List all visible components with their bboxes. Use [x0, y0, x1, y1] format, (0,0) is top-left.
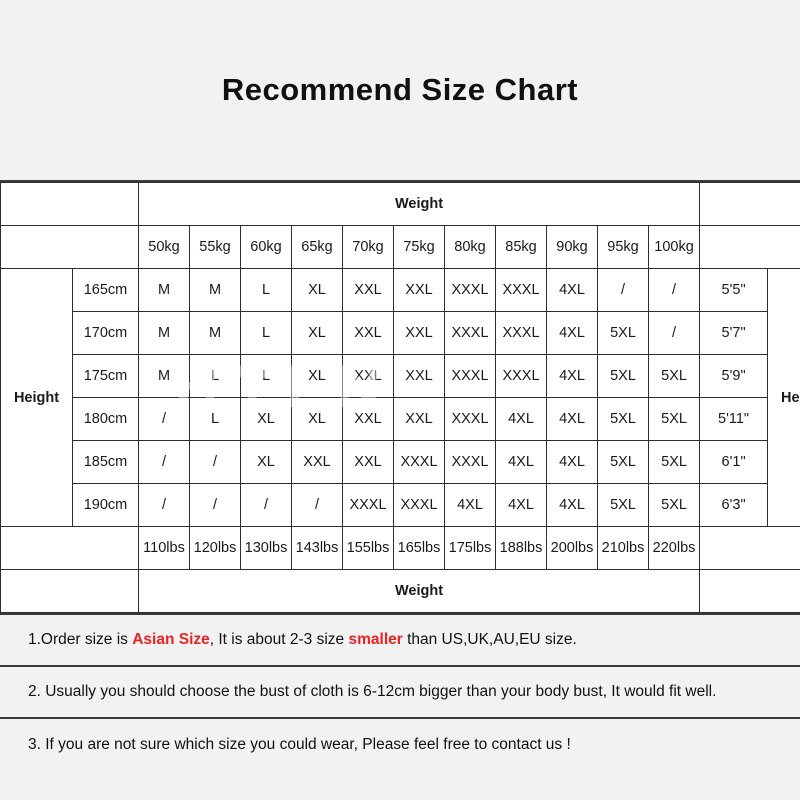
note-item: 1.Order size is Asian Size, It is about … [0, 615, 800, 667]
size-cell[interactable]: 4XL [496, 441, 547, 484]
size-cell-value: XXL [394, 312, 444, 354]
size-table: Weight50kg55kg60kg65kg70kg75kg80kg85kg90… [0, 182, 800, 613]
column-header-kg: 60kg [241, 226, 292, 269]
size-cell-value: 5XL [598, 441, 648, 483]
size-cell[interactable]: 5XL [649, 398, 700, 441]
row-header-height-cm: 165cm [73, 269, 139, 312]
corner-blank-topright [700, 183, 800, 226]
corner-blank-footleft [1, 570, 139, 613]
corner-blank-bottomleft [1, 527, 139, 570]
column-header-lbs: 143lbs [292, 527, 343, 570]
size-cell[interactable]: 4XL [547, 269, 598, 312]
column-header-lbs: 175lbs [445, 527, 496, 570]
size-cell-value: / [292, 484, 342, 526]
size-cell[interactable]: XXXL [445, 441, 496, 484]
table-row: 190cm////XXXLXXXL4XL4XL4XL5XL5XL6'3" [1, 484, 800, 527]
table-header-row-kg: 50kg55kg60kg65kg70kg75kg80kg85kg90kg95kg… [1, 226, 800, 269]
size-cell[interactable]: XXL [343, 269, 394, 312]
height-axis-label-left: Height [1, 269, 73, 527]
size-cell[interactable]: 4XL [547, 398, 598, 441]
row-header-height-ft: 5'7" [700, 312, 768, 355]
corner-blank-right [700, 226, 800, 269]
size-cell-value: XL [241, 441, 291, 483]
size-cell[interactable]: XXL [343, 355, 394, 398]
size-cell[interactable]: / [649, 312, 700, 355]
size-cell[interactable]: / [292, 484, 343, 527]
size-cell[interactable]: XL [241, 441, 292, 484]
title-band: Recommend Size Chart [0, 0, 800, 182]
size-cell-value: XL [292, 355, 342, 397]
size-cell[interactable]: 5XL [598, 398, 649, 441]
column-header-kg: 70kg [343, 226, 394, 269]
size-cell[interactable]: / [649, 269, 700, 312]
size-cell-value: XXL [343, 355, 393, 397]
size-cell-value: M [139, 312, 189, 354]
size-cell[interactable]: / [139, 441, 190, 484]
size-cell[interactable]: 4XL [496, 484, 547, 527]
size-cell[interactable]: / [139, 484, 190, 527]
size-table-container: Weight50kg55kg60kg65kg70kg75kg80kg85kg90… [0, 182, 800, 615]
size-cell-value: XXL [343, 269, 393, 311]
size-cell-value: XL [292, 269, 342, 311]
column-header-lbs: 210lbs [598, 527, 649, 570]
corner-blank-topleft [1, 183, 139, 226]
size-cell-value: 4XL [496, 441, 546, 483]
size-cell-value: XXL [394, 269, 444, 311]
size-cell[interactable]: M [139, 312, 190, 355]
size-cell[interactable]: 4XL [496, 398, 547, 441]
size-cell[interactable]: L [190, 355, 241, 398]
size-cell[interactable]: XXXL [394, 484, 445, 527]
column-header-lbs: 188lbs [496, 527, 547, 570]
weight-axis-label-bottom: Weight [139, 570, 700, 613]
size-cell-value: XL [292, 312, 342, 354]
size-cell[interactable]: / [241, 484, 292, 527]
row-header-height-cm: 170cm [73, 312, 139, 355]
column-header-kg: 55kg [190, 226, 241, 269]
column-header-lbs: 110lbs [139, 527, 190, 570]
row-header-height-cm: 175cm [73, 355, 139, 398]
note-text: 2. Usually you should choose the bust of… [28, 683, 716, 701]
page-title: Recommend Size Chart [222, 72, 578, 108]
note-plain: 2. Usually you should choose the bust of… [28, 683, 716, 700]
column-header-kg: 75kg [394, 226, 445, 269]
note-text: 3. If you are not sure which size you co… [28, 736, 571, 754]
column-header-lbs: 200lbs [547, 527, 598, 570]
table-row: 170cmMMLXLXXLXXLXXXLXXXL4XL5XL/5'7" [1, 312, 800, 355]
size-cell[interactable]: 4XL [547, 355, 598, 398]
size-cell[interactable]: 4XL [547, 484, 598, 527]
size-cell-value: 5XL [649, 441, 699, 483]
column-header-kg: 90kg [547, 226, 598, 269]
size-cell[interactable]: L [241, 312, 292, 355]
size-cell-value: XXXL [445, 398, 495, 440]
size-cell[interactable]: XL [292, 398, 343, 441]
table-row: 175cmMLLXLXXLXXLXXXLXXXL4XL5XL5XL5'9" [1, 355, 800, 398]
size-cell-value: M [190, 312, 240, 354]
size-cell-value: / [190, 484, 240, 526]
size-cell[interactable]: XXL [292, 441, 343, 484]
size-cell[interactable]: XL [292, 269, 343, 312]
table-footer-row-lbs: 110lbs120lbs130lbs143lbs155lbs165lbs175l… [1, 527, 800, 570]
note-highlight: smaller [348, 631, 402, 648]
note-item: 2. Usually you should choose the bust of… [0, 667, 800, 719]
size-cell[interactable]: XXXL [445, 398, 496, 441]
size-cell-value: XXXL [394, 441, 444, 483]
note-plain: 3. If you are not sure which size you co… [28, 736, 571, 753]
size-cell[interactable]: XXXL [394, 441, 445, 484]
size-cell[interactable]: XXXL [496, 312, 547, 355]
weight-axis-label-top: Weight [139, 183, 700, 226]
size-cell[interactable]: 5XL [649, 355, 700, 398]
size-cell-value: XXXL [445, 441, 495, 483]
size-cell-value: / [241, 484, 291, 526]
size-cell[interactable]: XXXL [445, 312, 496, 355]
column-header-kg: 95kg [598, 226, 649, 269]
size-cell[interactable]: / [139, 398, 190, 441]
column-header-kg: 100kg [649, 226, 700, 269]
size-cell-value: 5XL [598, 312, 648, 354]
size-cell[interactable]: 5XL [649, 484, 700, 527]
size-cell[interactable]: XXL [343, 441, 394, 484]
size-cell-value: XXXL [496, 269, 546, 311]
corner-blank-bottomright [700, 527, 800, 570]
size-cell[interactable]: M [190, 312, 241, 355]
size-cell[interactable]: L [241, 269, 292, 312]
size-cell-value: XXL [343, 398, 393, 440]
size-cell-value: XXL [343, 312, 393, 354]
note-text: 1.Order size is Asian Size, It is about … [28, 631, 577, 649]
size-cell[interactable]: XXL [394, 398, 445, 441]
column-header-lbs: 220lbs [649, 527, 700, 570]
size-cell[interactable]: XXL [343, 398, 394, 441]
size-cell-value: XL [292, 398, 342, 440]
size-cell-value: M [139, 355, 189, 397]
corner-blank-left [1, 226, 139, 269]
size-cell-value: 4XL [547, 312, 597, 354]
corner-blank-footright [700, 570, 800, 613]
table-row: Height165cmMMLXLXXLXXLXXXLXXXL4XL//5'5"H… [1, 269, 800, 312]
size-cell-value: L [190, 355, 240, 397]
size-cell-value: XXL [292, 441, 342, 483]
table-row: 180cm/LXLXLXXLXXLXXXL4XL4XL5XL5XL5'11" [1, 398, 800, 441]
size-cell[interactable]: M [190, 269, 241, 312]
note-plain: 1.Order size is [28, 631, 132, 648]
size-cell[interactable]: XXXL [445, 269, 496, 312]
size-chart-page: Recommend Size Chart Weight50kg55kg60kg6… [0, 0, 800, 800]
row-header-height-ft: 5'9" [700, 355, 768, 398]
size-cell-value: 4XL [547, 269, 597, 311]
size-cell[interactable]: 4XL [547, 312, 598, 355]
size-cell[interactable]: XXL [343, 312, 394, 355]
size-cell-value: 5XL [649, 355, 699, 397]
size-cell-value: 4XL [547, 398, 597, 440]
note-plain: than US,UK,AU,EU size. [403, 631, 577, 648]
size-cell-value: L [241, 355, 291, 397]
size-cell-value: 4XL [496, 484, 546, 526]
height-axis-label-right: Height [768, 269, 800, 527]
size-cell-value: 4XL [547, 484, 597, 526]
size-cell-value: 4XL [547, 441, 597, 483]
size-cell[interactable]: / [190, 484, 241, 527]
size-cell-value: XXXL [445, 355, 495, 397]
size-cell[interactable]: 4XL [445, 484, 496, 527]
size-cell-value: L [241, 312, 291, 354]
column-header-kg: 80kg [445, 226, 496, 269]
table-row: 185cm//XLXXLXXLXXXLXXXL4XL4XL5XL5XL6'1" [1, 441, 800, 484]
size-cell[interactable]: L [241, 355, 292, 398]
size-cell[interactable]: XXXL [343, 484, 394, 527]
row-header-height-cm: 185cm [73, 441, 139, 484]
size-cell[interactable]: XXXL [496, 269, 547, 312]
column-header-lbs: 120lbs [190, 527, 241, 570]
size-cell[interactable]: / [190, 441, 241, 484]
size-cell-value: 5XL [598, 398, 648, 440]
size-cell-value: XXXL [496, 312, 546, 354]
size-cell-value: 5XL [649, 484, 699, 526]
row-header-height-cm: 190cm [73, 484, 139, 527]
column-header-kg: 65kg [292, 226, 343, 269]
row-header-height-ft: 6'3" [700, 484, 768, 527]
size-cell-value: XXXL [445, 312, 495, 354]
column-header-lbs: 130lbs [241, 527, 292, 570]
size-cell-value: L [241, 269, 291, 311]
size-cell[interactable]: L [190, 398, 241, 441]
column-header-lbs: 155lbs [343, 527, 394, 570]
size-cell-value: XXL [394, 398, 444, 440]
size-cell-value: XXXL [394, 484, 444, 526]
size-cell[interactable]: 5XL [598, 441, 649, 484]
size-cell-value: L [190, 398, 240, 440]
size-cell[interactable]: XXL [394, 355, 445, 398]
table-footer-row-weight: Weight [1, 570, 800, 613]
size-cell[interactable]: XL [292, 312, 343, 355]
size-cell-value: XXL [343, 441, 393, 483]
size-cell-value: 5XL [649, 398, 699, 440]
size-cell-value: / [139, 441, 189, 483]
size-cell[interactable]: XXXL [445, 355, 496, 398]
size-cell-value: XXXL [445, 269, 495, 311]
size-cell[interactable]: M [139, 355, 190, 398]
size-cell[interactable]: 5XL [649, 441, 700, 484]
size-cell-value: 5XL [598, 355, 648, 397]
table-header-row-weight-top: Weight [1, 183, 800, 226]
size-cell[interactable]: XL [292, 355, 343, 398]
size-cell-value: 4XL [445, 484, 495, 526]
size-cell[interactable]: 5XL [598, 312, 649, 355]
size-cell-value: / [649, 269, 699, 311]
size-cell[interactable]: 4XL [547, 441, 598, 484]
size-cell[interactable]: M [139, 269, 190, 312]
row-header-height-ft: 6'1" [700, 441, 768, 484]
size-cell-value: / [190, 441, 240, 483]
size-cell[interactable]: 5XL [598, 355, 649, 398]
size-cell-value: M [139, 269, 189, 311]
size-cell-value: XL [241, 398, 291, 440]
size-cell[interactable]: XXL [394, 312, 445, 355]
note-plain: , It is about 2-3 size [210, 631, 349, 648]
row-header-height-cm: 180cm [73, 398, 139, 441]
size-cell-value: / [139, 398, 189, 440]
size-cell-value: XXXL [496, 355, 546, 397]
size-cell-value: / [598, 269, 648, 311]
size-cell[interactable]: XL [241, 398, 292, 441]
size-cell-value: M [190, 269, 240, 311]
row-header-height-ft: 5'5" [700, 269, 768, 312]
row-header-height-ft: 5'11" [700, 398, 768, 441]
size-cell[interactable]: XXL [394, 269, 445, 312]
note-item: 3. If you are not sure which size you co… [0, 719, 800, 771]
size-cell[interactable]: / [598, 269, 649, 312]
size-cell-value: XXL [394, 355, 444, 397]
size-cell[interactable]: 5XL [598, 484, 649, 527]
size-cell-value: 4XL [496, 398, 546, 440]
size-cell-value: / [139, 484, 189, 526]
size-cell-value: 4XL [547, 355, 597, 397]
column-header-kg: 85kg [496, 226, 547, 269]
notes-section: 1.Order size is Asian Size, It is about … [0, 615, 800, 771]
column-header-lbs: 165lbs [394, 527, 445, 570]
size-cell-value: / [649, 312, 699, 354]
column-header-kg: 50kg [139, 226, 190, 269]
size-cell-value: 5XL [598, 484, 648, 526]
size-cell-value: XXXL [343, 484, 393, 526]
note-highlight: Asian Size [132, 631, 210, 648]
size-cell[interactable]: XXXL [496, 355, 547, 398]
